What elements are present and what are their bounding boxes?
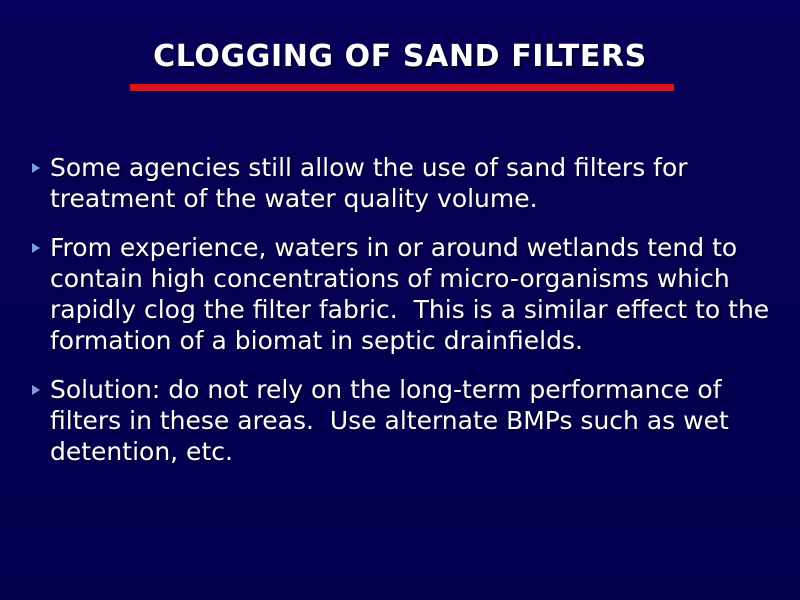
slide-body: Some agencies still allow the use of san… bbox=[29, 152, 781, 467]
triangle-right-bullet-icon bbox=[32, 243, 40, 253]
triangle-right-bullet-icon bbox=[32, 163, 40, 173]
slide-title-block: CLOGGING OF SAND FILTERS bbox=[0, 38, 800, 76]
list-item-text: Some agencies still allow the use of san… bbox=[50, 152, 781, 214]
triangle-right-bullet-icon bbox=[32, 385, 40, 395]
list-item-text: Solution: do not rely on the long-term p… bbox=[50, 374, 781, 467]
list-item-text: From experience, waters in or around wet… bbox=[50, 232, 781, 356]
page-title: CLOGGING OF SAND FILTERS bbox=[0, 38, 800, 76]
title-underline-rule bbox=[130, 84, 674, 91]
list-item: Solution: do not rely on the long-term p… bbox=[29, 374, 781, 467]
list-item: Some agencies still allow the use of san… bbox=[29, 152, 781, 214]
presentation-slide: CLOGGING OF SAND FILTERS Some agencies s… bbox=[0, 0, 800, 600]
list-item: From experience, waters in or around wet… bbox=[29, 232, 781, 356]
